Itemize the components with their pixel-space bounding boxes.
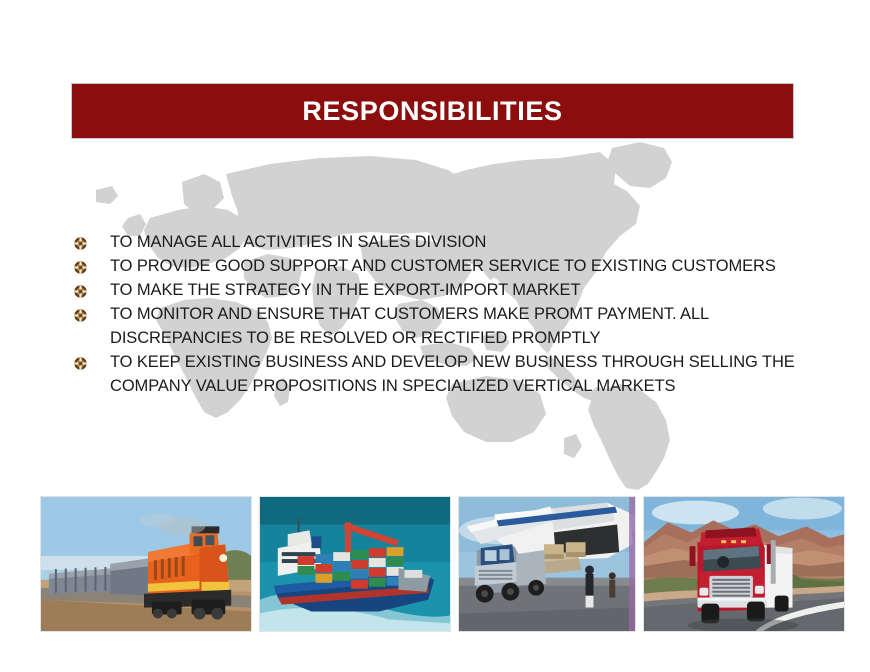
photo-strip — [40, 496, 838, 632]
list-item: TO MANAGE ALL ACTIVITIES IN SALES DIVISI… — [74, 230, 834, 254]
list-item-label: TO KEEP EXISTING BUSINESS AND DEVELOP NE… — [110, 350, 834, 398]
slide-title-bar: RESPONSIBILITIES — [71, 83, 794, 139]
bullet-target-icon — [74, 285, 87, 298]
list-item: TO MONITOR AND ENSURE THAT CUSTOMERS MAK… — [74, 302, 834, 350]
bullet-target-icon — [74, 357, 87, 370]
list-item-label: TO MONITOR AND ENSURE THAT CUSTOMERS MAK… — [110, 302, 834, 350]
slide-canvas: RESPONSIBILITIES TO MANAGE ALL ACTIVITIE… — [0, 0, 870, 672]
page-title: RESPONSIBILITIES — [302, 98, 562, 125]
container-ship-photo — [259, 496, 451, 632]
bullet-target-icon — [74, 237, 87, 250]
responsibilities-list: TO MANAGE ALL ACTIVITIES IN SALES DIVISI… — [74, 230, 834, 398]
list-item-label: TO PROVIDE GOOD SUPPORT AND CUSTOMER SER… — [110, 254, 834, 278]
list-item: TO MAKE THE STRATEGY IN THE EXPORT-IMPOR… — [74, 278, 834, 302]
list-item: TO KEEP EXISTING BUSINESS AND DEVELOP NE… — [74, 350, 834, 398]
semi-truck-photo — [643, 496, 845, 632]
bullet-target-icon — [74, 261, 87, 274]
list-item-label: TO MANAGE ALL ACTIVITIES IN SALES DIVISI… — [110, 230, 834, 254]
bullet-target-icon — [74, 309, 87, 322]
list-item-label: TO MAKE THE STRATEGY IN THE EXPORT-IMPOR… — [110, 278, 834, 302]
list-item: TO PROVIDE GOOD SUPPORT AND CUSTOMER SER… — [74, 254, 834, 278]
freight-train-photo — [40, 496, 252, 632]
air-cargo-truck-photo — [458, 496, 636, 632]
